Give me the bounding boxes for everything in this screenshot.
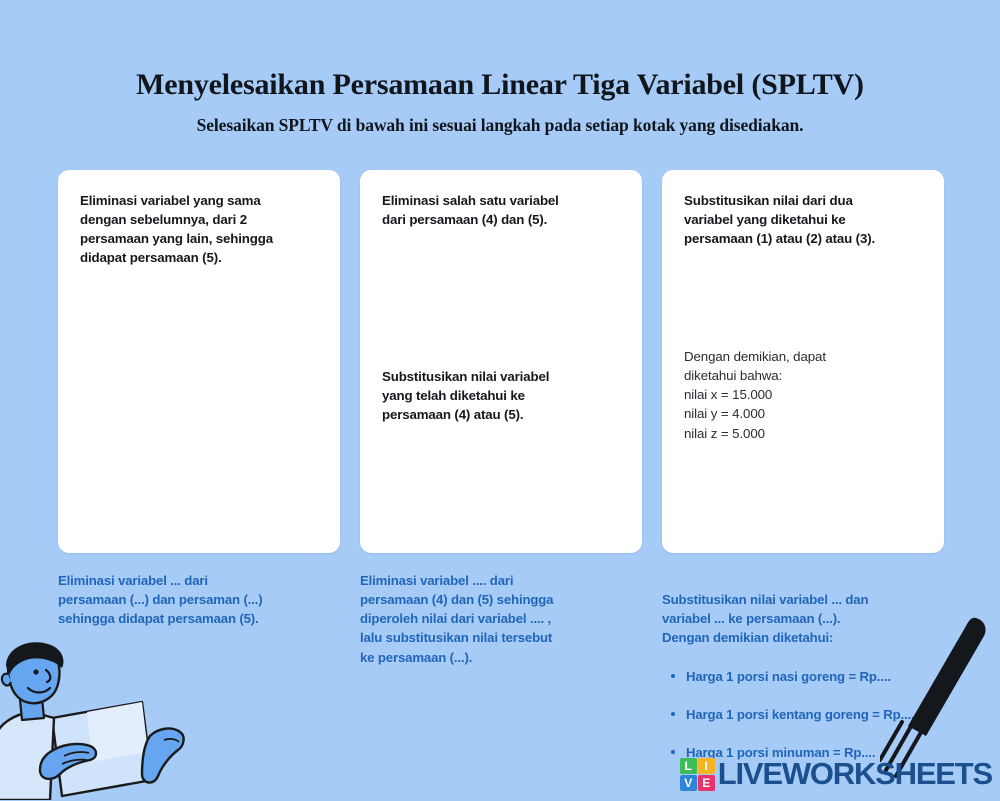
card-3-result-note: Dengan demikian, dapat diketahui bahwa: … — [684, 347, 924, 443]
step-column-1: Eliminasi variabel yang sama dengan sebe… — [58, 170, 340, 801]
instruction-text-1: Eliminasi variabel ... dari persamaan (.… — [58, 571, 340, 628]
step-column-2: Eliminasi salah satu variabel dari persa… — [360, 170, 642, 801]
step-column-3: Substitusikan nilai dari dua variabel ya… — [662, 170, 944, 801]
answer-card-2[interactable]: Eliminasi salah satu variabel dari persa… — [360, 170, 642, 553]
logo-tiles: L I V E — [680, 758, 715, 791]
list-item: Harga 1 porsi kentang goreng = Rp.... — [662, 705, 944, 724]
logo-tile-i: I — [698, 758, 715, 774]
card-3-prompt: Substitusikan nilai dari dua variabel ya… — [684, 192, 924, 249]
instruction-text-2: Eliminasi variabel .... dari persamaan (… — [360, 571, 642, 667]
list-item: Harga 1 porsi nasi goreng = Rp.... — [662, 667, 944, 686]
card-2-prompt-secondary: Substitusikan nilai variabel yang telah … — [382, 368, 622, 425]
page-subtitle: Selesaikan SPLTV di bawah ini sesuai lan… — [0, 101, 1000, 136]
logo-tile-v: V — [680, 775, 697, 791]
answer-card-1[interactable]: Eliminasi variabel yang sama dengan sebe… — [58, 170, 340, 553]
card-2-prompt: Eliminasi salah satu variabel dari persa… — [382, 192, 622, 230]
card-3-answer-area-upper[interactable] — [684, 249, 924, 347]
card-2-answer-area-upper[interactable] — [382, 230, 622, 368]
card-2-answer-area-lower[interactable] — [382, 424, 622, 535]
instruction-text-3-lead: Substitusikan nilai variabel ... dan var… — [662, 592, 868, 645]
page-title: Menyelesaikan Persamaan Linear Tiga Vari… — [0, 68, 1000, 101]
answer-card-3[interactable]: Substitusikan nilai dari dua variabel ya… — [662, 170, 944, 553]
card-3-answer-area-lower[interactable] — [684, 443, 924, 535]
card-1-prompt: Eliminasi variabel yang sama dengan sebe… — [80, 192, 320, 268]
liveworksheets-logo[interactable]: L I V E LIVEWORKSHEETS — [680, 754, 992, 794]
card-1-answer-area[interactable] — [80, 268, 320, 536]
worksheet-header: Menyelesaikan Persamaan Linear Tiga Vari… — [0, 0, 1000, 136]
logo-tile-l: L — [680, 758, 697, 774]
logo-wordmark: LIVEWORKSHEETS — [718, 756, 992, 792]
logo-tile-e: E — [698, 775, 715, 791]
steps-container: Eliminasi variabel yang sama dengan sebe… — [58, 170, 944, 801]
